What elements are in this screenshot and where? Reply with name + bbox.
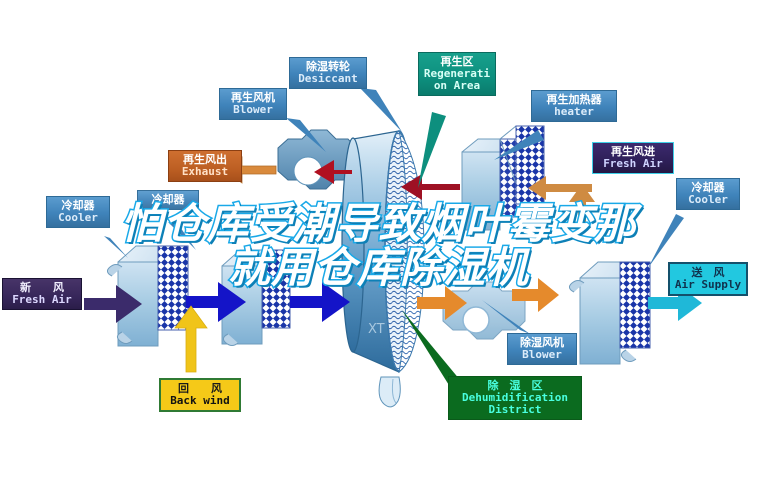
label-dehumidification-district: 除 湿 区 Dehumidification District xyxy=(448,376,582,420)
label-desiccant-wheel-en: Desiccant xyxy=(294,73,362,85)
svg-text:XT: XT xyxy=(368,322,385,337)
label-back-wind: 回 风 Back wind xyxy=(159,378,241,412)
label-regeneration-air-inlet: 再生风进 Fresh Air xyxy=(592,142,674,174)
label-exhaust-en: Exhaust xyxy=(173,166,237,178)
label-regeneration-heater-en: heater xyxy=(536,106,612,118)
label-cooler-middle-cn: 冷却器 xyxy=(142,194,194,206)
label-regeneration-blower-en: Blower xyxy=(224,104,282,116)
label-air-supply: 送 风 Air Supply xyxy=(668,262,748,296)
label-cooler-right: 冷却器 Cooler xyxy=(676,178,740,210)
label-dehumidification-district-en: Dehumidification xyxy=(453,392,577,404)
label-regeneration-heater: 再生加热器 heater xyxy=(531,90,617,122)
label-back-wind-en: Back wind xyxy=(165,395,235,407)
label-desiccant-wheel: 除湿转轮 Desiccant xyxy=(289,57,367,89)
schematic-artwork: XT xyxy=(0,0,757,488)
label-regeneration-area-en2: on Area xyxy=(423,80,491,92)
label-dehumidification-blower: 除湿风机 Blower xyxy=(507,333,577,365)
label-regeneration-area: 再生区 Regenerati on Area xyxy=(418,52,496,96)
label-cooler-left: 冷却器 Cooler xyxy=(46,196,110,228)
label-fresh-air-inlet: 新 风 Fresh Air xyxy=(2,278,82,310)
label-cooler-right-en: Cooler xyxy=(681,194,735,206)
label-air-supply-en: Air Supply xyxy=(673,279,743,291)
diagram-canvas: XT xyxy=(0,0,757,488)
arrow-process-2 xyxy=(290,282,350,322)
label-regeneration-air-inlet-en: Fresh Air xyxy=(597,158,669,170)
label-cooler-middle: 冷却器 xyxy=(137,190,199,210)
label-cooler-left-en: Cooler xyxy=(51,212,105,224)
label-regeneration-blower: 再生风机 Blower xyxy=(219,88,287,120)
desiccant-rotor-graphic: XT xyxy=(342,131,424,407)
cooler-block-right-graphic xyxy=(569,262,650,364)
label-exhaust: 再生风出 Exhaust xyxy=(168,150,242,182)
label-dehumidification-blower-en: Blower xyxy=(512,349,572,361)
label-dehumidification-district-en2: District xyxy=(453,404,577,416)
label-fresh-air-inlet-en: Fresh Air xyxy=(7,294,77,306)
label-regeneration-area-en: Regenerati xyxy=(423,68,491,80)
